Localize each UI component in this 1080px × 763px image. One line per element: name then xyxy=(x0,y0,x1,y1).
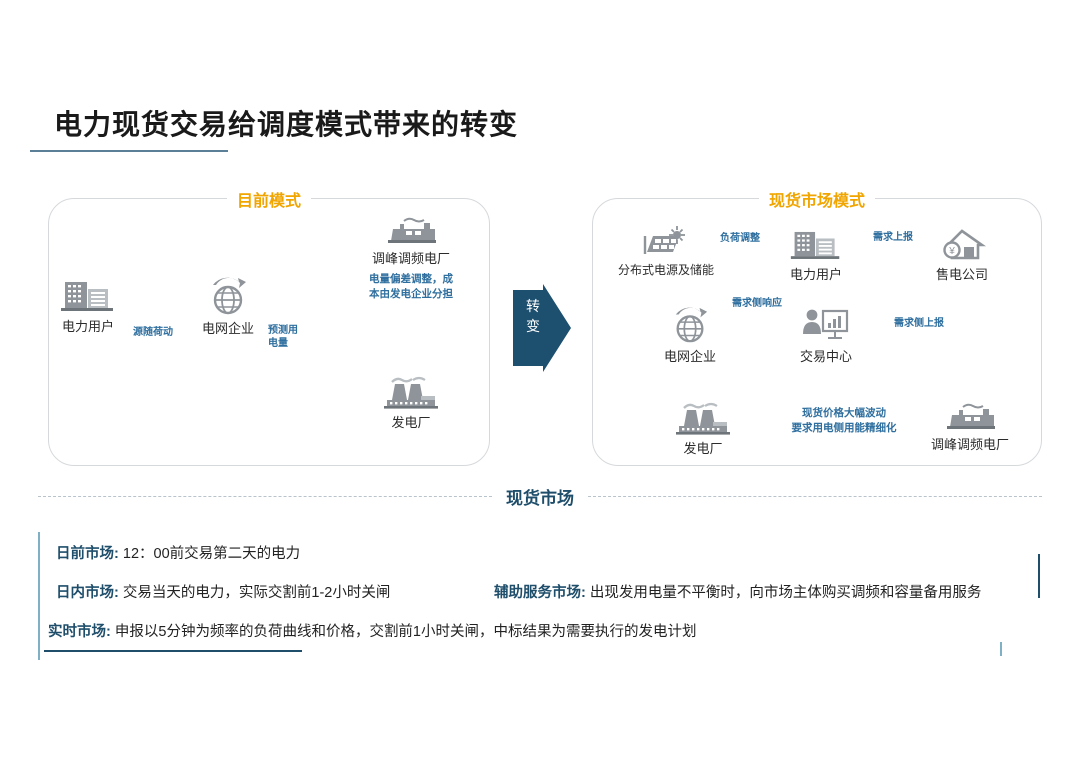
node-label: 电网企业 xyxy=(650,350,730,364)
edge-label-line1: 预测用 xyxy=(268,325,298,336)
node-grid-company-right[interactable]: 电网企业 xyxy=(650,306,730,364)
node-power-user-left[interactable]: 电力用户 xyxy=(48,278,128,334)
person-chart-icon xyxy=(786,308,866,349)
edge-label-demand-report: 需求上报 xyxy=(858,232,928,245)
accent-bar-left xyxy=(38,532,40,660)
section-divider-right xyxy=(588,496,1042,497)
node-label: 电力用户 xyxy=(778,268,854,282)
edge-label-demand-side-report: 需求侧上报 xyxy=(874,318,964,331)
note-spot-price: 现货价格大幅波动 要求用电侧用能精细化 xyxy=(762,406,926,436)
edge-label-source-follows-load: 源随荷动 xyxy=(120,327,186,340)
transform-label-char2: 变 xyxy=(526,318,540,334)
panel-left-legend: 目前模式 xyxy=(227,187,311,211)
market-row-ancillary: 辅助服务市场: 出现发用电量不平衡时，向市场主体购买调频和容量备用服务 xyxy=(494,581,981,602)
node-distributed-storage[interactable]: 分布式电源及储能 xyxy=(604,224,728,277)
market-key: 辅助服务市场: xyxy=(494,585,586,601)
node-power-plant-left[interactable]: 发电厂 xyxy=(366,376,456,430)
node-label: 调峰调频电厂 xyxy=(912,438,1028,452)
market-value: 12：00前交易第二天的电力 xyxy=(123,546,300,562)
globe-cycle-icon xyxy=(650,306,730,349)
page-title: 电力现货交易给调度模式带来的转变 xyxy=(54,103,518,143)
office-building-icon xyxy=(48,278,128,319)
section-header: 现货市场 xyxy=(0,481,1080,511)
node-label: 分布式电源及储能 xyxy=(604,264,728,277)
panel-right-legend: 现货市场模式 xyxy=(759,187,875,211)
node-label: 交易中心 xyxy=(786,350,866,364)
cooling-tower-icon xyxy=(366,376,456,415)
market-key: 实时市场: xyxy=(48,624,111,640)
section-divider-left xyxy=(38,496,492,497)
slide-root: 电力现货交易给调度模式带来的转变 xyxy=(0,0,1080,763)
accent-bar-right xyxy=(1038,554,1040,598)
cooling-tower-icon xyxy=(658,402,748,441)
transform-arrow: 转 变 xyxy=(513,284,571,372)
factory-icon xyxy=(349,216,473,251)
node-label: 调峰调频电厂 xyxy=(349,252,473,266)
market-value: 出现发用电量不平衡时，向市场主体购买调频和容量备用服务 xyxy=(590,585,982,601)
markets-block: 日前市场: 12：00前交易第二天的电力 日内市场: 交易当天的电力，实际交割前… xyxy=(38,528,1042,664)
office-building-icon xyxy=(778,228,854,267)
market-value: 交易当天的电力，实际交割前1-2小时关闸 xyxy=(123,585,390,601)
node-label: 发电厂 xyxy=(658,442,748,456)
note-line2: 本由发电企业分担 xyxy=(369,288,453,300)
edge-label-load-adjust: 负荷调整 xyxy=(705,233,775,246)
note-deviation-adjust: 电量偏差调整，成 本由发电企业分担 xyxy=(348,272,474,302)
svg-text:¥: ¥ xyxy=(948,246,955,257)
market-row-day-ahead: 日前市场: 12：00前交易第二天的电力 xyxy=(56,542,300,563)
node-peak-plant-left[interactable]: 调峰调频电厂 xyxy=(349,216,473,266)
edge-label-line2: 电量 xyxy=(268,338,288,349)
transform-arrow-label: 转 变 xyxy=(513,296,553,337)
house-money-icon: ¥ xyxy=(924,228,1000,267)
node-retail-company[interactable]: ¥ 售电公司 xyxy=(924,228,1000,282)
node-power-plant-right[interactable]: 发电厂 xyxy=(658,402,748,456)
globe-cycle-icon xyxy=(188,276,268,321)
edge-label-forecast-usage: 预测用 电量 xyxy=(268,325,316,350)
node-label: 电网企业 xyxy=(188,322,268,336)
market-key: 日内市场: xyxy=(56,585,119,601)
market-row-intraday: 日内市场: 交易当天的电力，实际交割前1-2小时关闸 xyxy=(56,581,390,602)
accent-bar-bottom-right xyxy=(1000,642,1002,656)
transform-label-char1: 转 xyxy=(526,298,540,314)
note-line2: 要求用电侧用能精细化 xyxy=(792,422,897,434)
node-peak-plant-right[interactable]: 调峰调频电厂 xyxy=(912,402,1028,452)
node-grid-company-left[interactable]: 电网企业 xyxy=(188,276,268,336)
accent-bar-bottom xyxy=(44,650,302,652)
node-label: 售电公司 xyxy=(924,268,1000,282)
title-underline xyxy=(30,150,228,152)
node-trading-center[interactable]: 交易中心 xyxy=(786,308,866,364)
section-heading: 现货市场 xyxy=(506,484,574,509)
factory-icon xyxy=(912,402,1028,437)
node-label: 电力用户 xyxy=(48,320,128,334)
market-value: 申报以5分钟为频率的负荷曲线和价格，交割前1小时关闸，中标结果为需要执行的发电计… xyxy=(115,624,697,640)
market-key: 日前市场: xyxy=(56,546,119,562)
node-label: 发电厂 xyxy=(366,416,456,430)
market-row-real-time: 实时市场: 申报以5分钟为频率的负荷曲线和价格，交割前1小时关闸，中标结果为需要… xyxy=(48,620,697,641)
node-power-user-right[interactable]: 电力用户 xyxy=(778,228,854,282)
note-line1: 电量偏差调整，成 xyxy=(369,273,453,285)
note-line1: 现货价格大幅波动 xyxy=(802,407,886,419)
